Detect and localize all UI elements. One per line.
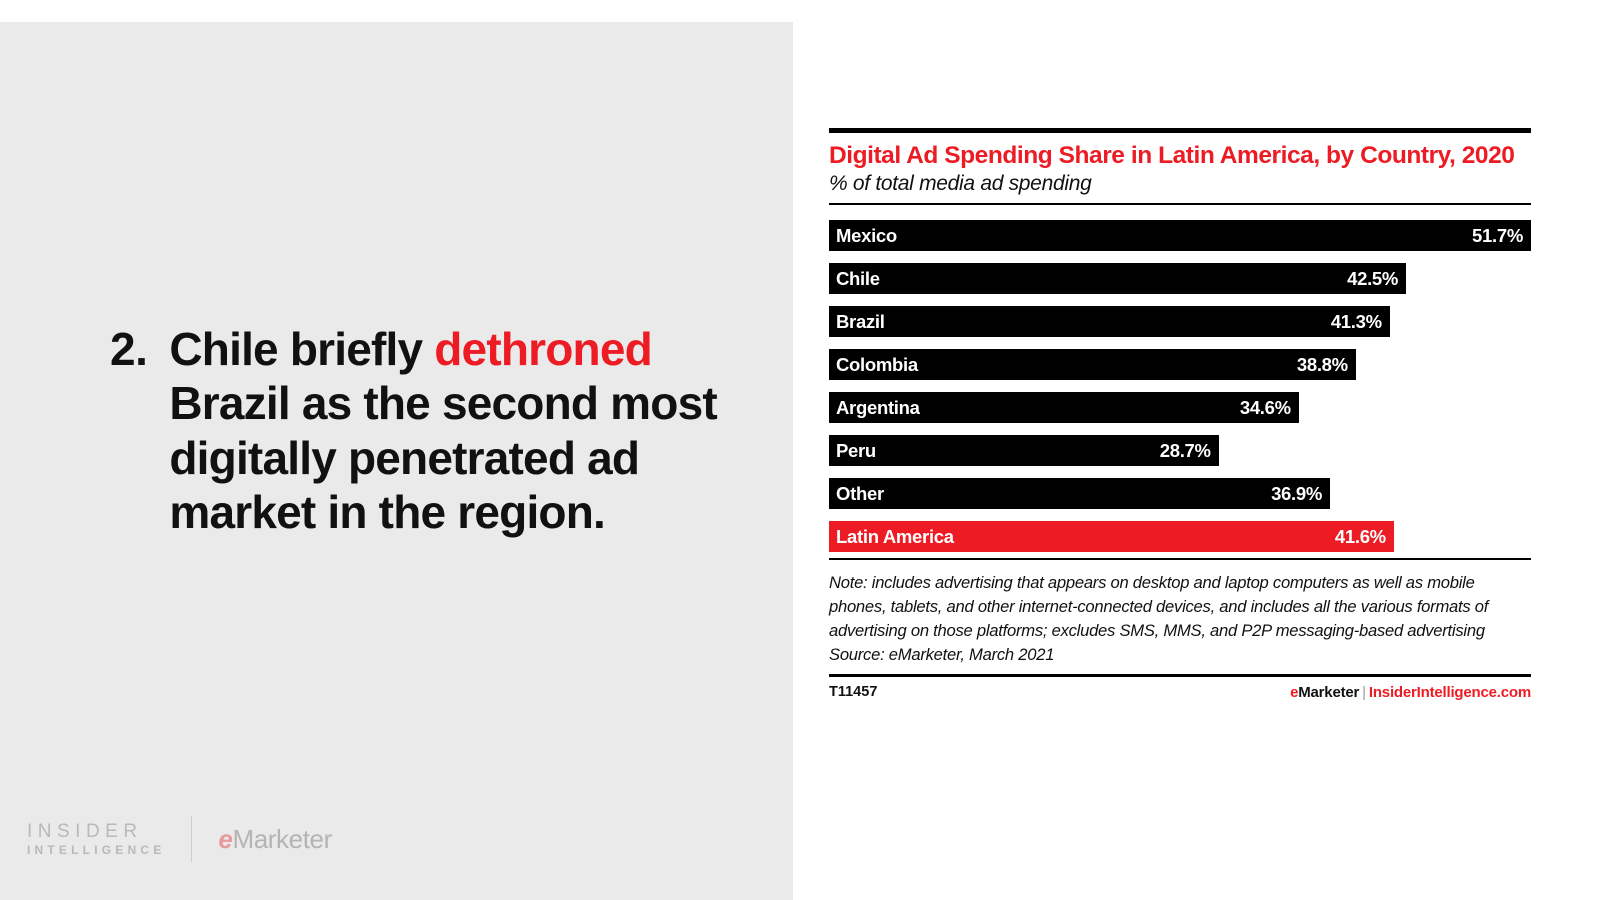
- footer-brand-e: e: [1290, 684, 1298, 701]
- bar: Chile42.5%: [829, 263, 1406, 294]
- bar-category-label: Mexico: [836, 225, 897, 247]
- headline-part-2: Brazil as the second most digitally pene…: [169, 377, 717, 538]
- chart-card: Digital Ad Spending Share in Latin Ameri…: [829, 128, 1531, 701]
- bar: Peru28.7%: [829, 435, 1219, 466]
- footer-brand-site[interactable]: InsiderIntelligence.com: [1369, 684, 1531, 701]
- slide-canvas: 2. Chile briefly dethroned Brazil as the…: [0, 0, 1600, 900]
- emarketer-logo: eMarketer: [218, 824, 331, 855]
- chart-title: Digital Ad Spending Share in Latin Ameri…: [829, 133, 1531, 170]
- bar-row: Brazil41.3%: [829, 300, 1531, 343]
- chart-note-text: Note: includes advertising that appears …: [829, 565, 1531, 643]
- bar-chart-plot: Mexico51.7%Chile42.5%Brazil41.3%Colombia…: [829, 205, 1531, 558]
- footer-brand-separator: |: [1359, 684, 1369, 701]
- bar-value-label: 34.6%: [1222, 397, 1291, 419]
- bar-row: Argentina34.6%: [829, 386, 1531, 429]
- bar-category-label: Colombia: [836, 354, 918, 376]
- chart-footer: T11457 eMarketer|InsiderIntelligence.com: [829, 677, 1531, 701]
- bar: Brazil41.3%: [829, 306, 1390, 337]
- bar-category-label: Chile: [836, 268, 880, 290]
- bar-category-label: Brazil: [836, 311, 885, 333]
- bar-value-label: 36.9%: [1253, 483, 1322, 505]
- bar-value-label: 51.7%: [1454, 225, 1523, 247]
- headline-block: 2. Chile briefly dethroned Brazil as the…: [110, 322, 730, 539]
- chart-id-label: T11457: [829, 684, 877, 700]
- chart-source-text: Source: eMarketer, March 2021: [829, 643, 1531, 674]
- insider-logo-line-1: INSIDER: [27, 820, 165, 844]
- bar-category-label: Peru: [836, 440, 876, 462]
- bar-row: Peru28.7%: [829, 429, 1531, 472]
- bar-row: Mexico51.7%: [829, 214, 1531, 257]
- chart-footer-brand: eMarketer|InsiderIntelligence.com: [1290, 684, 1531, 701]
- headline-part-1: Chile briefly: [169, 323, 434, 375]
- headline-highlight-word: dethroned: [434, 323, 652, 375]
- brand-logo-lockup: INSIDER INTELLIGENCE eMarketer: [27, 816, 332, 862]
- bar: Latin America41.6%: [829, 521, 1394, 552]
- chart-notes: Note: includes advertising that appears …: [829, 560, 1531, 674]
- logo-divider: [191, 816, 192, 862]
- bar-row: Other36.9%: [829, 472, 1531, 515]
- bar-value-label: 28.7%: [1142, 440, 1211, 462]
- bar-value-label: 41.6%: [1317, 526, 1386, 548]
- headline-text: Chile briefly dethroned Brazil as the se…: [169, 322, 730, 539]
- bar: Colombia38.8%: [829, 349, 1356, 380]
- bar: Argentina34.6%: [829, 392, 1299, 423]
- emarketer-logo-e: e: [218, 824, 232, 854]
- left-content-panel: 2. Chile briefly dethroned Brazil as the…: [0, 22, 793, 900]
- chart-subtitle: % of total media ad spending: [829, 170, 1531, 203]
- bar-category-label: Latin America: [836, 526, 954, 548]
- bar: Mexico51.7%: [829, 220, 1531, 251]
- bar-value-label: 41.3%: [1313, 311, 1382, 333]
- bar-row: Chile42.5%: [829, 257, 1531, 300]
- insider-intelligence-logo: INSIDER INTELLIGENCE: [27, 820, 165, 859]
- insider-logo-line-2: INTELLIGENCE: [27, 843, 165, 858]
- bar: Other36.9%: [829, 478, 1330, 509]
- emarketer-logo-rest: Marketer: [232, 824, 331, 854]
- bar-value-label: 42.5%: [1329, 268, 1398, 290]
- bar-row: Latin America41.6%: [829, 515, 1531, 558]
- bar-value-label: 38.8%: [1279, 354, 1348, 376]
- bar-category-label: Other: [836, 483, 884, 505]
- footer-brand-marketer: Marketer: [1298, 684, 1359, 701]
- bar-row: Colombia38.8%: [829, 343, 1531, 386]
- headline-number: 2.: [110, 322, 147, 376]
- bar-category-label: Argentina: [836, 397, 920, 419]
